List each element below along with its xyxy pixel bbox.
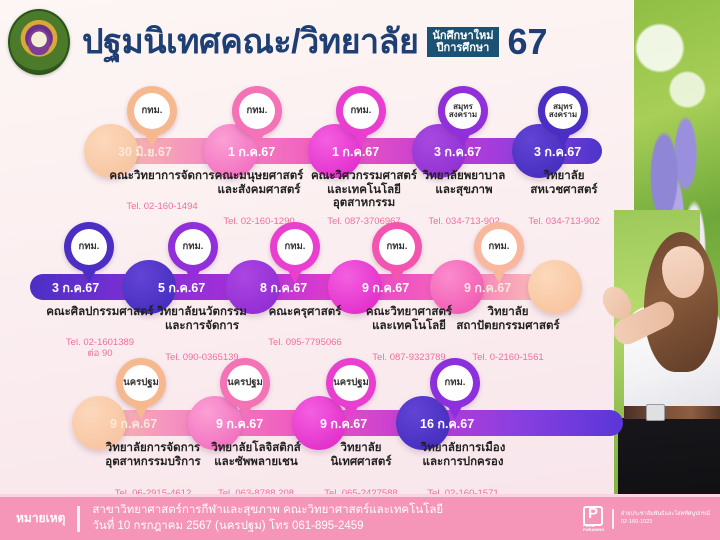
location-pin-icon: สมุทรสงคราม xyxy=(538,86,588,136)
location-pin-icon: นครปฐม xyxy=(116,358,166,408)
contact-phone-line: Tel. 095-7795066 xyxy=(232,338,378,349)
location-pin-icon: กทม. xyxy=(127,86,177,136)
location-pin-label: สมุทรสงคราม xyxy=(445,93,481,129)
location-pin-icon: นครปฐม xyxy=(220,358,270,408)
header: ปฐมนิเทศคณะ/วิทยาลัย นักศึกษาใหม่ ปีการศ… xyxy=(0,0,632,84)
event-date: 3 ก.ค.67 xyxy=(434,142,481,162)
footer-line-1: สาขาวิทยาศาสตร์การกีฬาและสุขภาพ คณะวิทยา… xyxy=(92,503,443,519)
footer: หมายเหตุ สาขาวิทยาศาสตร์การกีฬาและสุขภาพ… xyxy=(0,494,720,540)
event-date: 1 ก.ค.67 xyxy=(228,142,275,162)
location-pin-icon: กทม. xyxy=(270,222,320,272)
faculty-name-line: สถาปัตยกรรมศาสตร์ xyxy=(428,320,588,334)
location-pin-label: กทม. xyxy=(71,229,107,265)
faculty-name: วิทยาลัยสถาปัตยกรรมศาสตร์ xyxy=(428,306,588,333)
faculty-name-line: สหเวชศาสตร์ xyxy=(494,184,634,198)
belt-buckle xyxy=(646,404,665,421)
location-pin-icon: กทม. xyxy=(64,222,114,272)
location-pin-label: กทม. xyxy=(134,93,170,129)
footer-note-text: สาขาวิทยาศาสตร์การกีฬาและสุขภาพ คณะวิทยา… xyxy=(92,503,443,534)
location-pin-icon: กทม. xyxy=(430,358,480,408)
pr-logo-icon: PURA PURANING xyxy=(583,506,605,532)
location-pin-icon: กทม. xyxy=(232,86,282,136)
location-pin-icon: กทม. xyxy=(372,222,422,272)
timeline-row-2: กทม.3 ก.ค.67คณะศิลปกรรมศาสตร์Tel. 02-160… xyxy=(0,222,632,352)
faculty-name-line: และการปกครอง xyxy=(390,456,536,470)
pr-logo-name: PURA PURANING xyxy=(583,524,604,532)
event-date: 9 ก.ค.67 xyxy=(216,414,263,434)
faculty-name: วิทยาลัยการเมืองและการปกครอง xyxy=(390,442,536,469)
location-pin-label: กทม. xyxy=(277,229,313,265)
event-date: 5 ก.ค.67 xyxy=(158,278,205,298)
location-pin-icon: กทม. xyxy=(168,222,218,272)
brand-divider xyxy=(612,509,614,529)
event-date: 9 ก.ค.67 xyxy=(362,278,409,298)
faculty-name-line: วิทยาลัยการเมือง xyxy=(390,442,536,456)
event-date: 3 ก.ค.67 xyxy=(52,278,99,298)
faculty-name: วิทยาลัยสหเวชศาสตร์ xyxy=(494,170,634,197)
contact-phone-line: Tel. 02-160-1494 xyxy=(87,202,237,213)
badge-line-1: นักศึกษาใหม่ xyxy=(432,30,493,42)
brand-contact: ฝ่ายประชาสัมพันธ์และโสตทัศนูปกรณ์ 02-160… xyxy=(621,511,710,526)
location-pin-icon: นครปฐม xyxy=(326,358,376,408)
timeline-row-3: นครปฐม9 ก.ค.67วิทยาลัยการจัดการอุตสาหกรร… xyxy=(0,358,632,488)
note-label: หมายเหตุ xyxy=(16,509,65,528)
faculty-name-line: อุตสาหกรรม xyxy=(288,197,440,211)
location-pin-icon: สมุทรสงคราม xyxy=(438,86,488,136)
page-title: ปฐมนิเทศคณะ/วิทยาลัย xyxy=(82,25,418,59)
brand-contact-1: ฝ่ายประชาสัมพันธ์และโสตทัศนูปกรณ์ xyxy=(621,511,710,518)
event-date: 16 ก.ค.67 xyxy=(420,414,474,434)
brand-name-2: PURANING xyxy=(583,527,604,532)
brand-contact-2: 02-160-1023 xyxy=(621,519,710,526)
event-date: 9 ก.ค.67 xyxy=(110,414,157,434)
event-date: 9 ก.ค.67 xyxy=(464,278,511,298)
location-pin-icon: กทม. xyxy=(474,222,524,272)
university-seal-icon xyxy=(8,9,70,75)
contact-phone: Tel. 02-160-1494 xyxy=(87,202,237,213)
footer-divider xyxy=(77,506,80,532)
event-date: 8 ก.ค.67 xyxy=(260,278,307,298)
faculty-name-line: และการจัดการ xyxy=(128,320,276,334)
infographic-page: ปฐมนิเทศคณะ/วิทยาลัย นักศึกษาใหม่ ปีการศ… xyxy=(0,0,720,540)
location-pin-label: นครปฐม xyxy=(333,365,369,401)
faculty-name-line: วิทยาลัย xyxy=(428,306,588,320)
location-pin-label: สมุทรสงคราม xyxy=(545,93,581,129)
event-date: 3 ก.ค.67 xyxy=(534,142,581,162)
contact-phone: Tel. 095-7795066 xyxy=(232,338,378,349)
location-pin-label: นครปฐม xyxy=(227,365,263,401)
new-student-badge: นักศึกษาใหม่ ปีการศึกษา xyxy=(427,27,498,58)
event-date: 9 ก.ค.67 xyxy=(320,414,367,434)
footer-brand: PURA PURANING ฝ่ายประชาสัมพันธ์และโสตทัศ… xyxy=(583,506,710,532)
badge-line-2: ปีการศึกษา xyxy=(432,42,493,54)
faculty-name-line: วิทยาลัย xyxy=(494,170,634,184)
location-pin-label: กทม. xyxy=(379,229,415,265)
location-pin-label: นครปฐม xyxy=(123,365,159,401)
location-pin-label: กทม. xyxy=(239,93,275,129)
location-pin-label: กทม. xyxy=(343,93,379,129)
timeline-row-1: กทม.30 มิ.ย.67คณะวิทยาการจัดการTel. 02-1… xyxy=(0,86,632,216)
academic-year: 67 xyxy=(508,24,548,60)
belt xyxy=(624,406,720,419)
location-pin-label: กทม. xyxy=(437,365,473,401)
event-date: 30 มิ.ย.67 xyxy=(118,142,172,162)
location-pin-icon: กทม. xyxy=(336,86,386,136)
location-pin-label: กทม. xyxy=(175,229,211,265)
footer-line-2: วันที่ 10 กรกฎาคม 2567 (นครปฐม) โทร 061-… xyxy=(92,519,443,535)
location-pin-label: กทม. xyxy=(481,229,517,265)
event-date: 1 ก.ค.67 xyxy=(332,142,379,162)
